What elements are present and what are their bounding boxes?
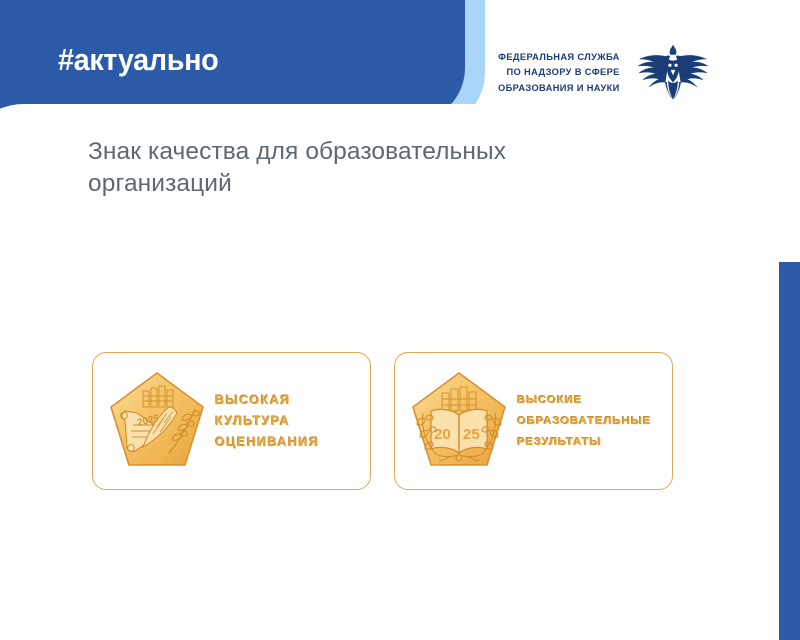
page-title-line-1: Знак качества для образовательных bbox=[88, 138, 506, 165]
badge-card-high-assessment-culture[interactable]: 2025 bbox=[92, 352, 371, 490]
page-title-line-2: организаций bbox=[88, 170, 232, 197]
gold-pentagon-medal-open-book-icon: 20 25 bbox=[409, 369, 509, 473]
logo-text-block: ФЕДЕРАЛЬНАЯ СЛУЖБА ПО НАДЗОРУ В СФЕРЕ ОБ… bbox=[498, 50, 620, 97]
badge-text-line-2: КУЛЬТУРА bbox=[215, 411, 364, 432]
badge-card-list: 2025 bbox=[92, 352, 673, 490]
badge-text-line-3: ОЦЕНИВАНИЯ bbox=[215, 432, 364, 453]
right-accent-bar bbox=[779, 262, 800, 640]
badge-text-line-1: ВЫСОКИЕ bbox=[517, 390, 666, 411]
badge-text-high-assessment-culture: ВЫСОКАЯ КУЛЬТУРА ОЦЕНИВАНИЯ bbox=[215, 390, 364, 453]
svg-text:20: 20 bbox=[434, 426, 451, 443]
badge-text-high-educational-results: ВЫСОКИЕ ОБРАЗОВАТЕЛЬНЫЕ РЕЗУЛЬТАТЫ bbox=[517, 390, 666, 453]
medal-icon-wrapper: 20 25 bbox=[407, 366, 511, 476]
gold-pentagon-medal-scroll-quill-icon: 2025 bbox=[107, 369, 207, 473]
badge-text-line-1: ВЫСОКАЯ bbox=[215, 390, 364, 411]
badge-text-line-3: РЕЗУЛЬТАТЫ bbox=[517, 432, 666, 453]
svg-text:25: 25 bbox=[463, 426, 480, 443]
double-headed-eagle-emblem bbox=[634, 42, 712, 104]
badge-card-high-educational-results[interactable]: 20 25 bbox=[394, 352, 673, 490]
page-title: Знак качества для образовательных органи… bbox=[88, 136, 688, 200]
header-white-cutout bbox=[0, 104, 800, 132]
logo-line-2: ПО НАДЗОРУ В СФЕРЕ bbox=[498, 65, 620, 81]
slide-canvas: #актуально ФЕДЕРАЛЬНАЯ СЛУЖБА ПО НАДЗОРУ… bbox=[0, 0, 800, 640]
organization-logo: ФЕДЕРАЛЬНАЯ СЛУЖБА ПО НАДЗОРУ В СФЕРЕ ОБ… bbox=[498, 42, 712, 104]
logo-line-3: ОБРАЗОВАНИЯ И НАУКИ bbox=[498, 81, 620, 97]
logo-line-1: ФЕДЕРАЛЬНАЯ СЛУЖБА bbox=[498, 50, 620, 66]
medal-icon-wrapper: 2025 bbox=[105, 366, 209, 476]
badge-text-line-2: ОБРАЗОВАТЕЛЬНЫЕ bbox=[517, 411, 666, 432]
hashtag-label: #актуально bbox=[58, 42, 218, 78]
